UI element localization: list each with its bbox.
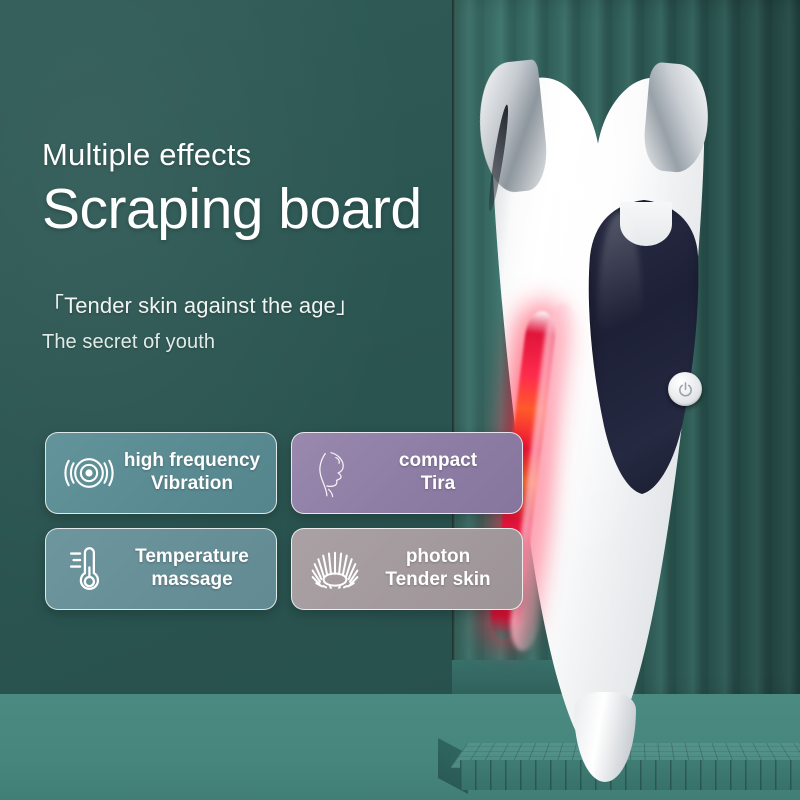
feature-badge-label: high frequency Vibration [122,450,266,496]
feature-badge-temperature[interactable]: Temperature massage [45,528,277,610]
feature-line-1: high frequency [124,450,260,471]
feature-badge-label: photon Tender skin [368,546,512,592]
feature-badge-vibration[interactable]: high frequency Vibration [45,432,277,514]
navy-head-gloss [598,212,642,402]
feature-line-2: Tender skin [368,569,508,592]
feature-badge-compact[interactable]: compact Tira [291,432,523,514]
vibration-waves-icon [56,440,122,506]
page-title: Scraping board [42,178,512,242]
photon-burst-icon [302,536,368,602]
feature-line-1: compact [399,450,477,471]
feature-badge-label: compact Tira [368,450,512,496]
eyebrow-text: Multiple effects [42,138,512,172]
feature-line-2: Vibration [122,473,262,496]
subtitle-secondary: The secret of youth [42,331,512,354]
face-profile-icon [302,440,368,506]
subtitle-quoted: 「Tender skin against the age」 [42,288,512,320]
feature-line-1: Temperature [135,546,249,567]
feature-badge-label: Temperature massage [122,546,266,592]
headline-block: Multiple effects Scraping board 「Tender … [42,138,512,354]
product-banner: Multiple effects Scraping board 「Tender … [0,0,800,800]
feature-line-1: photon [406,546,470,567]
feature-line-2: Tira [368,473,508,496]
feature-badge-photon[interactable]: photon Tender skin [291,528,523,610]
power-symbol-icon [677,381,694,398]
power-button[interactable] [668,372,702,406]
feature-line-2: massage [122,569,262,592]
thermometer-icon [56,536,122,602]
feature-badge-grid: high frequency Vibration compact Tira [45,432,525,610]
